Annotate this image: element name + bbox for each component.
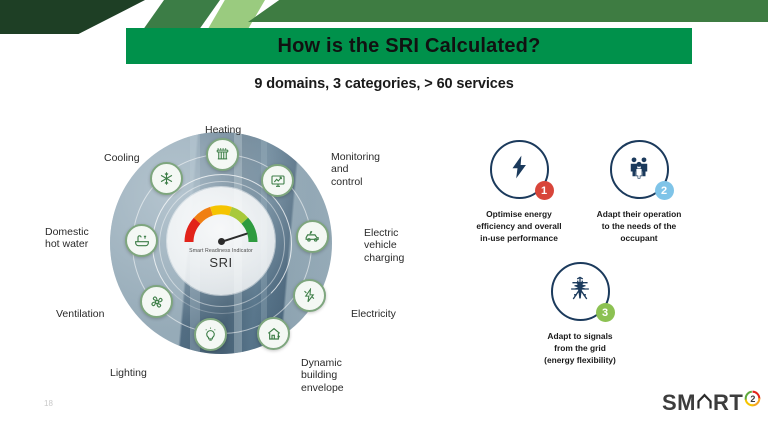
domain-label-lighting: Lighting xyxy=(110,367,147,379)
deco-shape-dark xyxy=(0,0,145,34)
category-3-badge: 3 xyxy=(596,303,615,322)
sri-wheel: Smart Readiness Indicator SRI xyxy=(110,132,332,354)
domain-icon-ventilation[interactable] xyxy=(140,285,173,318)
gauge-caption: Smart Readiness Indicator xyxy=(189,248,253,254)
category-3[interactable]: 3 Adapt to signals from the grid (energy… xyxy=(505,262,655,367)
domain-label-domestic-hot-water: Domestic hot water xyxy=(45,226,89,251)
domain-label-ventilation: Ventilation xyxy=(56,308,104,320)
logo-wordmark: SM RT xyxy=(662,390,743,414)
gauge-hub xyxy=(218,238,225,245)
category-1-circle: 1 xyxy=(490,140,549,199)
domain-icon-dynamic-building-envelope[interactable] xyxy=(257,317,290,350)
category-1-badge: 1 xyxy=(535,181,554,200)
ev-car-icon xyxy=(304,228,321,245)
slide: How is the SRI Calculated? 9 domains, 3 … xyxy=(0,0,768,432)
sri-gauge: Smart Readiness Indicator SRI xyxy=(167,187,275,295)
domain-icon-monitoring-and-control[interactable] xyxy=(261,164,294,197)
logo-superscript-text: 2 xyxy=(744,390,761,407)
deco-shape-bar xyxy=(248,0,768,22)
smart2-logo: SM RT 2 xyxy=(662,388,761,414)
house-arrow-icon xyxy=(266,326,282,342)
gauge-value: SRI xyxy=(209,255,232,270)
bathtub-icon xyxy=(134,233,150,249)
category-2-text: Adapt their operation to the needs of th… xyxy=(564,208,714,245)
pylon-icon xyxy=(566,275,594,308)
house-roof-icon xyxy=(695,390,714,414)
page-subtitle: 9 domains, 3 categories, > 60 services xyxy=(0,76,768,92)
lightbulb-icon xyxy=(203,327,218,342)
domain-icon-domestic-hot-water[interactable] xyxy=(125,224,158,257)
logo-text-after: RT xyxy=(713,392,743,414)
radiator-icon xyxy=(215,147,230,162)
domain-label-dynamic-building-envelope: Dynamic building envelope xyxy=(301,357,344,394)
bolt-outline-icon xyxy=(302,288,317,303)
page-title: How is the SRI Calculated? xyxy=(277,35,540,58)
domain-label-electric-vehicle-charging: Electric vehicle charging xyxy=(364,227,404,264)
fan-icon xyxy=(149,294,165,310)
logo-superscript: 2 xyxy=(744,390,761,407)
domain-icon-electric-vehicle-charging[interactable] xyxy=(296,220,329,253)
domain-icon-lighting[interactable] xyxy=(194,318,227,351)
domain-icon-cooling[interactable] xyxy=(150,162,183,195)
domain-label-cooling: Cooling xyxy=(104,152,140,164)
domain-label-electricity: Electricity xyxy=(351,308,396,320)
page-number: 18 xyxy=(44,399,53,408)
gauge-arc xyxy=(184,204,258,244)
category-2-badge: 2 xyxy=(655,181,674,200)
category-2-circle: 2 xyxy=(610,140,669,199)
domain-icon-heating[interactable] xyxy=(206,138,239,171)
monitor-chart-icon xyxy=(270,173,286,189)
domain-icon-electricity[interactable] xyxy=(293,279,326,312)
category-2[interactable]: 2 Adapt their operation to the needs of … xyxy=(564,140,714,245)
category-3-circle: 3 xyxy=(551,262,610,321)
domain-label-heating: Heating xyxy=(205,124,241,136)
title-banner: How is the SRI Calculated? xyxy=(126,28,692,64)
lightning-bolt-icon xyxy=(506,154,532,185)
people-icon xyxy=(626,154,652,185)
snowflake-icon xyxy=(159,171,174,186)
category-3-text: Adapt to signals from the grid (energy f… xyxy=(505,330,655,367)
logo-text-before: SM xyxy=(662,392,696,414)
domain-label-monitoring-and-control: Monitoring and control xyxy=(331,151,380,188)
